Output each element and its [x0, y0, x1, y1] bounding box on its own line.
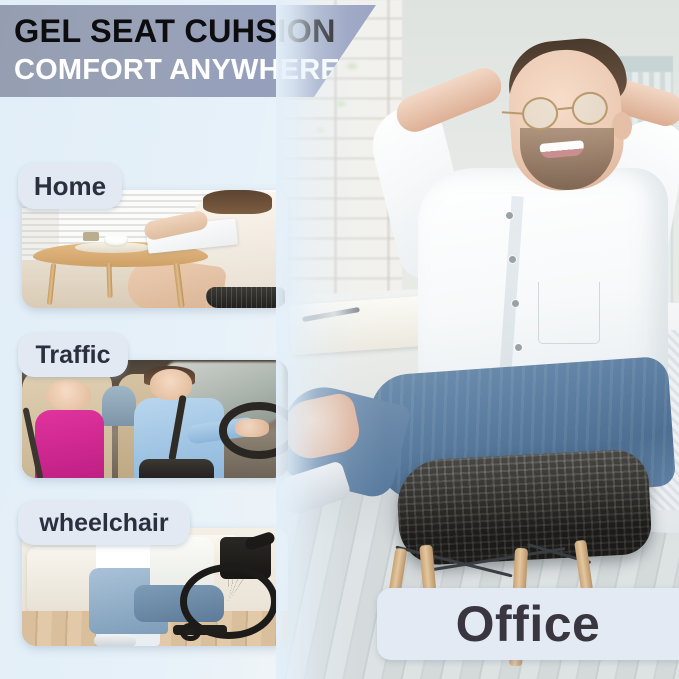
wheelchair-caster-wheel [180, 623, 201, 642]
child-in-back-seat [102, 386, 137, 426]
glasses-left-lens [520, 95, 559, 132]
use-case-label-traffic: Traffic [35, 341, 110, 370]
product-poster: GEL SEAT CUHSION COMFORT ANYWHERE Home [0, 0, 679, 679]
center-console [139, 459, 213, 478]
helper-shoe [94, 634, 137, 646]
woman-head [46, 379, 91, 410]
shirt-button [509, 256, 516, 263]
label-pill-traffic: Traffic [18, 333, 128, 377]
glasses-right-lens [570, 90, 609, 127]
shirt-button [506, 212, 513, 219]
scene-traffic [22, 360, 288, 478]
shirt-button [515, 344, 522, 351]
headline-banner: GEL SEAT CUHSION COMFORT ANYWHERE [0, 5, 376, 97]
coffee-cup [104, 236, 128, 247]
woman-hair [203, 190, 272, 214]
headline-primary: GEL SEAT CUHSION [14, 11, 344, 51]
headline-text-block: GEL SEAT CUHSION COMFORT ANYWHERE [14, 11, 344, 89]
woman-magenta-top [35, 410, 104, 478]
use-case-label-wheelchair: wheelchair [39, 509, 168, 538]
driver-head [150, 369, 193, 400]
use-case-panel-traffic [22, 360, 288, 478]
scene-wheelchair [22, 528, 288, 646]
shirt-pocket [538, 282, 600, 344]
hero-label-text: Office [456, 599, 601, 649]
use-case-label-home: Home [34, 171, 106, 202]
shirt-button [512, 300, 519, 307]
label-office: Office [377, 588, 679, 660]
wheel-spokes [193, 576, 264, 627]
label-pill-home: Home [18, 163, 122, 209]
headline-secondary: COMFORT ANYWHERE [14, 51, 344, 89]
hero-photo-office [276, 0, 679, 679]
use-case-panel-wheelchair [22, 528, 288, 646]
table-decor [83, 232, 99, 240]
label-pill-wheelchair: wheelchair [18, 501, 190, 545]
gel-seat-cushion [206, 287, 286, 308]
wheelchair-frame [166, 537, 283, 641]
